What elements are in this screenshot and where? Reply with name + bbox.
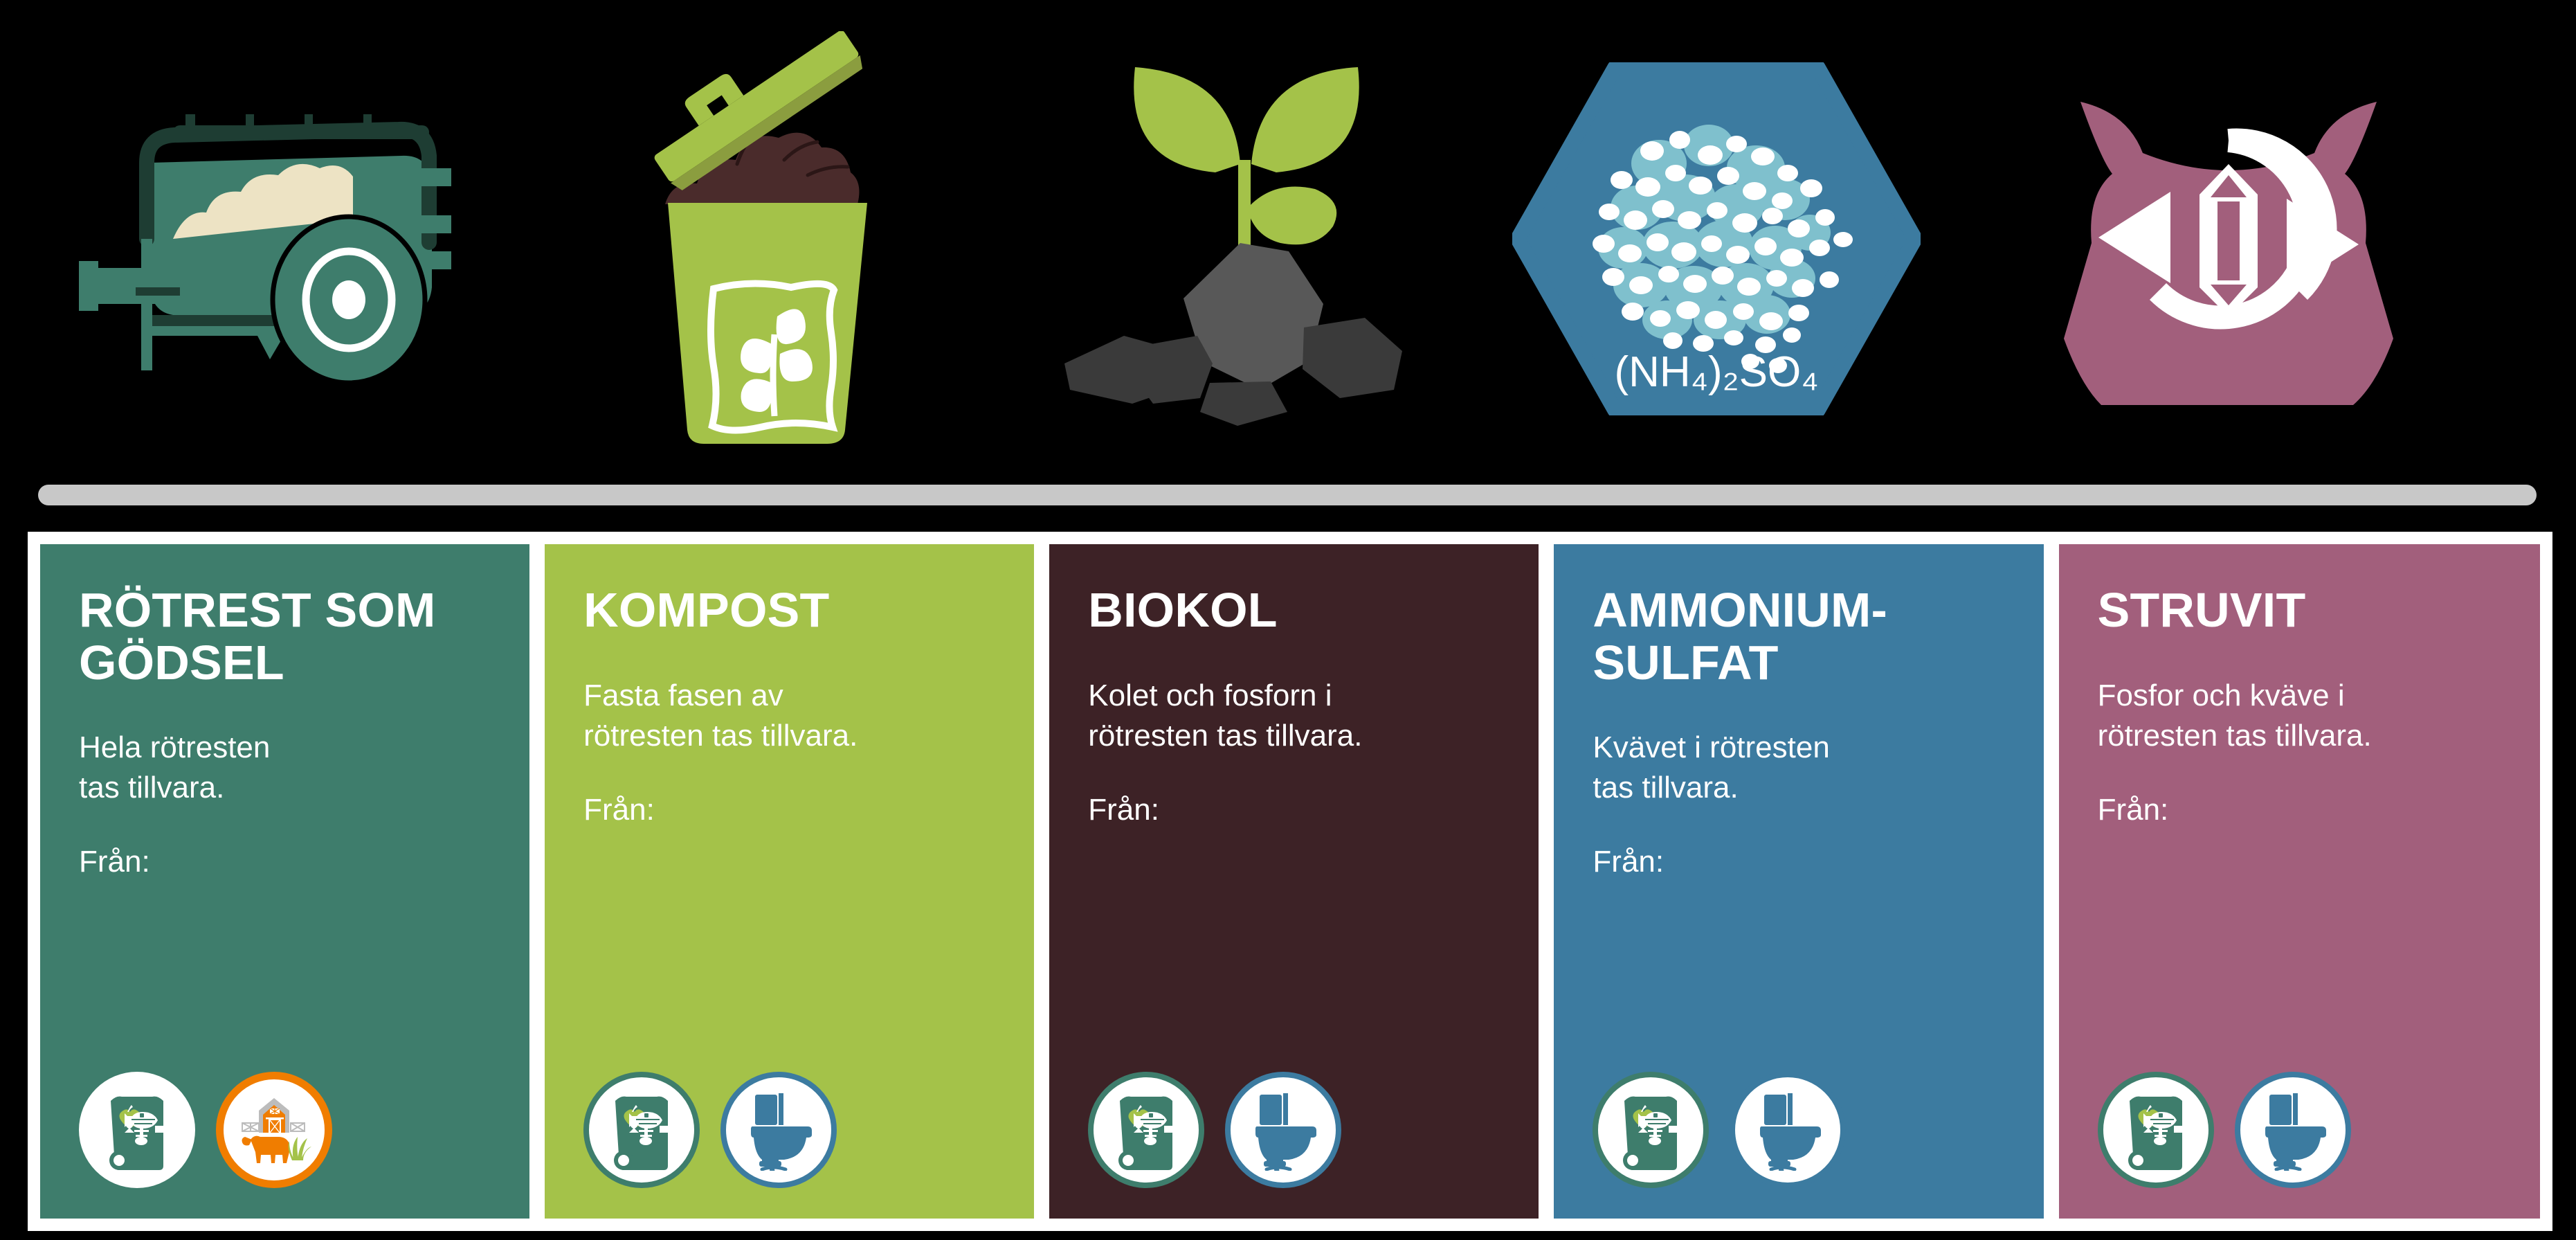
card-source-icons <box>79 1072 332 1188</box>
card-source-icons <box>1088 1072 1341 1188</box>
card-from-label: Från: <box>583 792 995 829</box>
farm-barn-cow-glyph <box>235 1094 313 1166</box>
chemical-formula-label: (NH₄)₂SO₄ <box>1614 348 1818 396</box>
horizontal-divider-bar <box>38 485 2537 505</box>
top-icon-cell-1 <box>28 0 505 478</box>
card-kompost: KOMPOSTFasta fasen av rötresten tas till… <box>545 544 1034 1219</box>
card-source-icons <box>2098 1072 2351 1188</box>
seedling-on-biochar-icon <box>1052 38 1412 440</box>
food-waste-bin-glyph <box>2120 1088 2192 1171</box>
food-waste-bin-icon[interactable] <box>583 1072 700 1188</box>
toilet-glyph <box>1246 1089 1321 1171</box>
card-source-icons <box>583 1072 837 1188</box>
food-waste-bin-icon[interactable] <box>1593 1072 1709 1188</box>
card-source-icons <box>1593 1072 1846 1188</box>
card-biokol: BIOKOLKolet och fosforn i rötresten tas … <box>1049 544 1539 1219</box>
card-description: Fasta fasen av rötresten tas tillvara. <box>583 676 995 756</box>
card-description: Hela rötresten tas tillvara. <box>79 728 491 808</box>
food-waste-bin-glyph <box>606 1088 678 1171</box>
card-title: BIOKOL <box>1088 584 1500 637</box>
top-icon-cell-5 <box>1979 0 2478 478</box>
cards-panel: RÖTREST SOM GÖDSELHela rötresten tas til… <box>28 532 2552 1231</box>
card-description: Kvävet i rötresten tas tillvara. <box>1593 728 2004 808</box>
top-icon-strip: (NH₄)₂SO₄ <box>0 0 2576 478</box>
infographic-root: (NH₄)₂SO₄ <box>0 0 2576 1240</box>
manure-spreader-tanker-icon <box>69 80 464 398</box>
card-description: Kolet och fosforn i rötresten tas tillva… <box>1088 676 1500 756</box>
food-waste-bin-icon[interactable] <box>79 1072 195 1188</box>
card-description: Fosfor och kväve i rötresten tas tillvar… <box>2098 676 2501 756</box>
card-from-label: Från: <box>1593 844 2004 881</box>
card-struvit: STRUVITFosfor och kväve i rötresten tas … <box>2059 544 2540 1219</box>
card-title: AMMONIUM- SULFAT <box>1593 584 2004 689</box>
toilet-glyph <box>1750 1089 1825 1171</box>
toilet-icon[interactable] <box>1225 1072 1341 1188</box>
toilet-glyph <box>741 1089 816 1171</box>
food-waste-bin-icon[interactable] <box>2098 1072 2214 1188</box>
top-icon-cell-3 <box>1004 0 1460 478</box>
compost-bin-icon <box>599 31 896 447</box>
card-title: RÖTREST SOM GÖDSEL <box>79 584 491 689</box>
card-from-label: Från: <box>2098 792 2501 829</box>
food-waste-bin-glyph <box>1110 1088 1182 1171</box>
card-title: STRUVIT <box>2098 584 2501 637</box>
toilet-icon[interactable] <box>2235 1072 2351 1188</box>
food-waste-bin-icon[interactable] <box>1088 1072 1204 1188</box>
toilet-icon[interactable] <box>1730 1072 1846 1188</box>
farm-barn-cow-icon[interactable] <box>216 1072 332 1188</box>
card-from-label: Från: <box>1088 792 1500 829</box>
card-ammoniumsulfat: AMMONIUM- SULFATKvävet i rötresten tas t… <box>1554 544 2043 1219</box>
food-waste-bin-glyph <box>1615 1088 1687 1171</box>
top-icon-cell-4: (NH₄)₂SO₄ <box>1467 0 1966 478</box>
toilet-icon[interactable] <box>720 1072 837 1188</box>
struvite-bag-recycle-icon <box>2056 59 2402 419</box>
card-title: KOMPOST <box>583 584 995 637</box>
top-icon-cell-2 <box>526 0 969 478</box>
toilet-glyph <box>2256 1089 2330 1171</box>
food-waste-bin-glyph <box>101 1088 173 1171</box>
card-from-label: Från: <box>79 844 491 881</box>
card-rotrest-som-godsel: RÖTREST SOM GÖDSELHela rötresten tas til… <box>40 544 529 1219</box>
ammonium-sulfate-hexagon-icon: (NH₄)₂SO₄ <box>1512 62 1921 415</box>
